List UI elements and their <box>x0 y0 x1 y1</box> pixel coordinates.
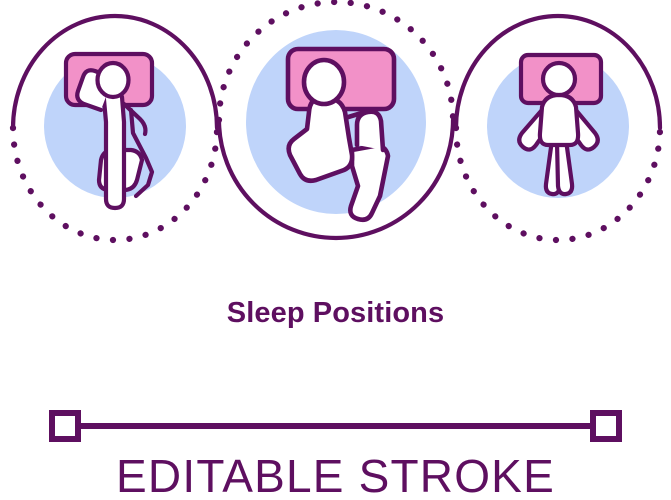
figure-head-fetal-sleeper <box>304 60 344 104</box>
figure-body-side-sleeper <box>104 86 124 208</box>
icon-side-sleeper[interactable] <box>13 16 217 240</box>
sleep-positions-illustration: Sleep Positions EDITABLE STROKE <box>0 0 671 500</box>
stroke-bar-left-handle-icon[interactable] <box>52 413 78 439</box>
icon-back-sleeper[interactable] <box>456 16 660 240</box>
page-title: Sleep Positions <box>227 297 444 329</box>
figure-head-side-sleeper <box>98 63 129 97</box>
illustration-canvas: Sleep Positions EDITABLE STROKE <box>0 0 671 500</box>
figure-torso-back-sleeper <box>540 95 578 145</box>
icon-fetal-sleeper[interactable] <box>219 2 453 238</box>
figure-forearm-fetal-sleeper <box>357 112 383 150</box>
stroke-bar-right-handle-icon[interactable] <box>593 413 619 439</box>
editable-stroke-label: EDITABLE STROKE <box>116 450 555 500</box>
figure-lower-leg-fetal-sleeper <box>350 146 388 220</box>
figure-head-back-sleeper <box>543 63 575 95</box>
editable-stroke-bar <box>52 413 619 439</box>
